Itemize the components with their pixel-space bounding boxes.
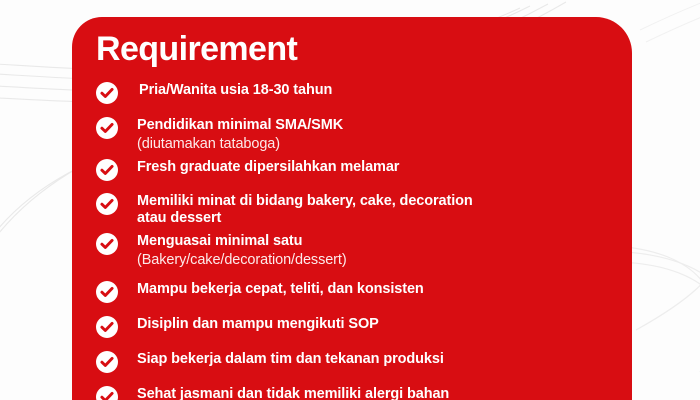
list-item-label: Sehat jasmani dan tidak memiliki alergi … [137, 386, 449, 400]
list-item: Pria/Wanita usia 18-30 tahun [72, 81, 632, 105]
list-item-label: Pria/Wanita usia 18-30 tahun [139, 82, 332, 99]
list-item-text: Sehat jasmani dan tidak memiliki alergi … [137, 385, 449, 400]
list-item: Fresh graduate dipersilahkan melamar [72, 158, 632, 182]
check-circle-icon [96, 233, 118, 255]
check-circle-icon [96, 316, 118, 338]
page-title: Requirement [96, 29, 297, 69]
requirement-list: Pria/Wanita usia 18-30 tahun Pendidikan … [72, 81, 632, 400]
list-item-text: Mampu bekerja cepat, teliti, dan konsist… [137, 280, 424, 298]
list-item: Siap bekerja dalam tim dan tekanan produ… [72, 350, 632, 374]
list-item-text: Siap bekerja dalam tim dan tekanan produ… [137, 350, 444, 368]
check-circle-icon [96, 117, 118, 139]
list-item-subtext: (Bakery/cake/decoration/dessert) [137, 251, 347, 269]
list-item-text: Pria/Wanita usia 18-30 tahun [139, 81, 332, 99]
list-item-label: Menguasai minimal satu [137, 233, 347, 250]
list-item-label: Pendidikan minimal SMA/SMK [137, 117, 343, 134]
list-item-label: Mampu bekerja cepat, teliti, dan konsist… [137, 281, 424, 298]
poster-canvas: Requirement Pria/Wanita usia 18-30 tahun [0, 0, 700, 400]
list-item: Menguasai minimal satu (Bakery/cake/deco… [72, 232, 632, 269]
list-item-text: Fresh graduate dipersilahkan melamar [137, 158, 399, 176]
list-item-label: Memiliki minat di bidang bakery, cake, d… [137, 193, 473, 227]
check-circle-icon [96, 193, 118, 215]
list-item-text: Disiplin dan mampu mengikuti SOP [137, 315, 379, 333]
list-item-label: Siap bekerja dalam tim dan tekanan produ… [137, 351, 444, 368]
list-item: Memiliki minat di bidang bakery, cake, d… [72, 192, 632, 227]
requirement-card: Requirement Pria/Wanita usia 18-30 tahun [72, 17, 632, 400]
list-item: Pendidikan minimal SMA/SMK (diutamakan t… [72, 116, 632, 153]
list-item-text: Pendidikan minimal SMA/SMK (diutamakan t… [137, 116, 343, 153]
list-item: Mampu bekerja cepat, teliti, dan konsist… [72, 280, 632, 304]
check-circle-icon [96, 82, 118, 104]
check-circle-icon [96, 281, 118, 303]
check-circle-icon [96, 159, 118, 181]
list-item-text: Memiliki minat di bidang bakery, cake, d… [137, 192, 473, 227]
list-item: Sehat jasmani dan tidak memiliki alergi … [72, 385, 632, 400]
list-item-label: Disiplin dan mampu mengikuti SOP [137, 316, 379, 333]
list-item-subtext: (diutamakan tataboga) [137, 135, 343, 153]
list-item-text: Menguasai minimal satu (Bakery/cake/deco… [137, 232, 347, 269]
check-circle-icon [96, 351, 118, 373]
check-circle-icon [96, 386, 118, 400]
list-item: Disiplin dan mampu mengikuti SOP [72, 315, 632, 339]
list-item-label: Fresh graduate dipersilahkan melamar [137, 159, 399, 176]
